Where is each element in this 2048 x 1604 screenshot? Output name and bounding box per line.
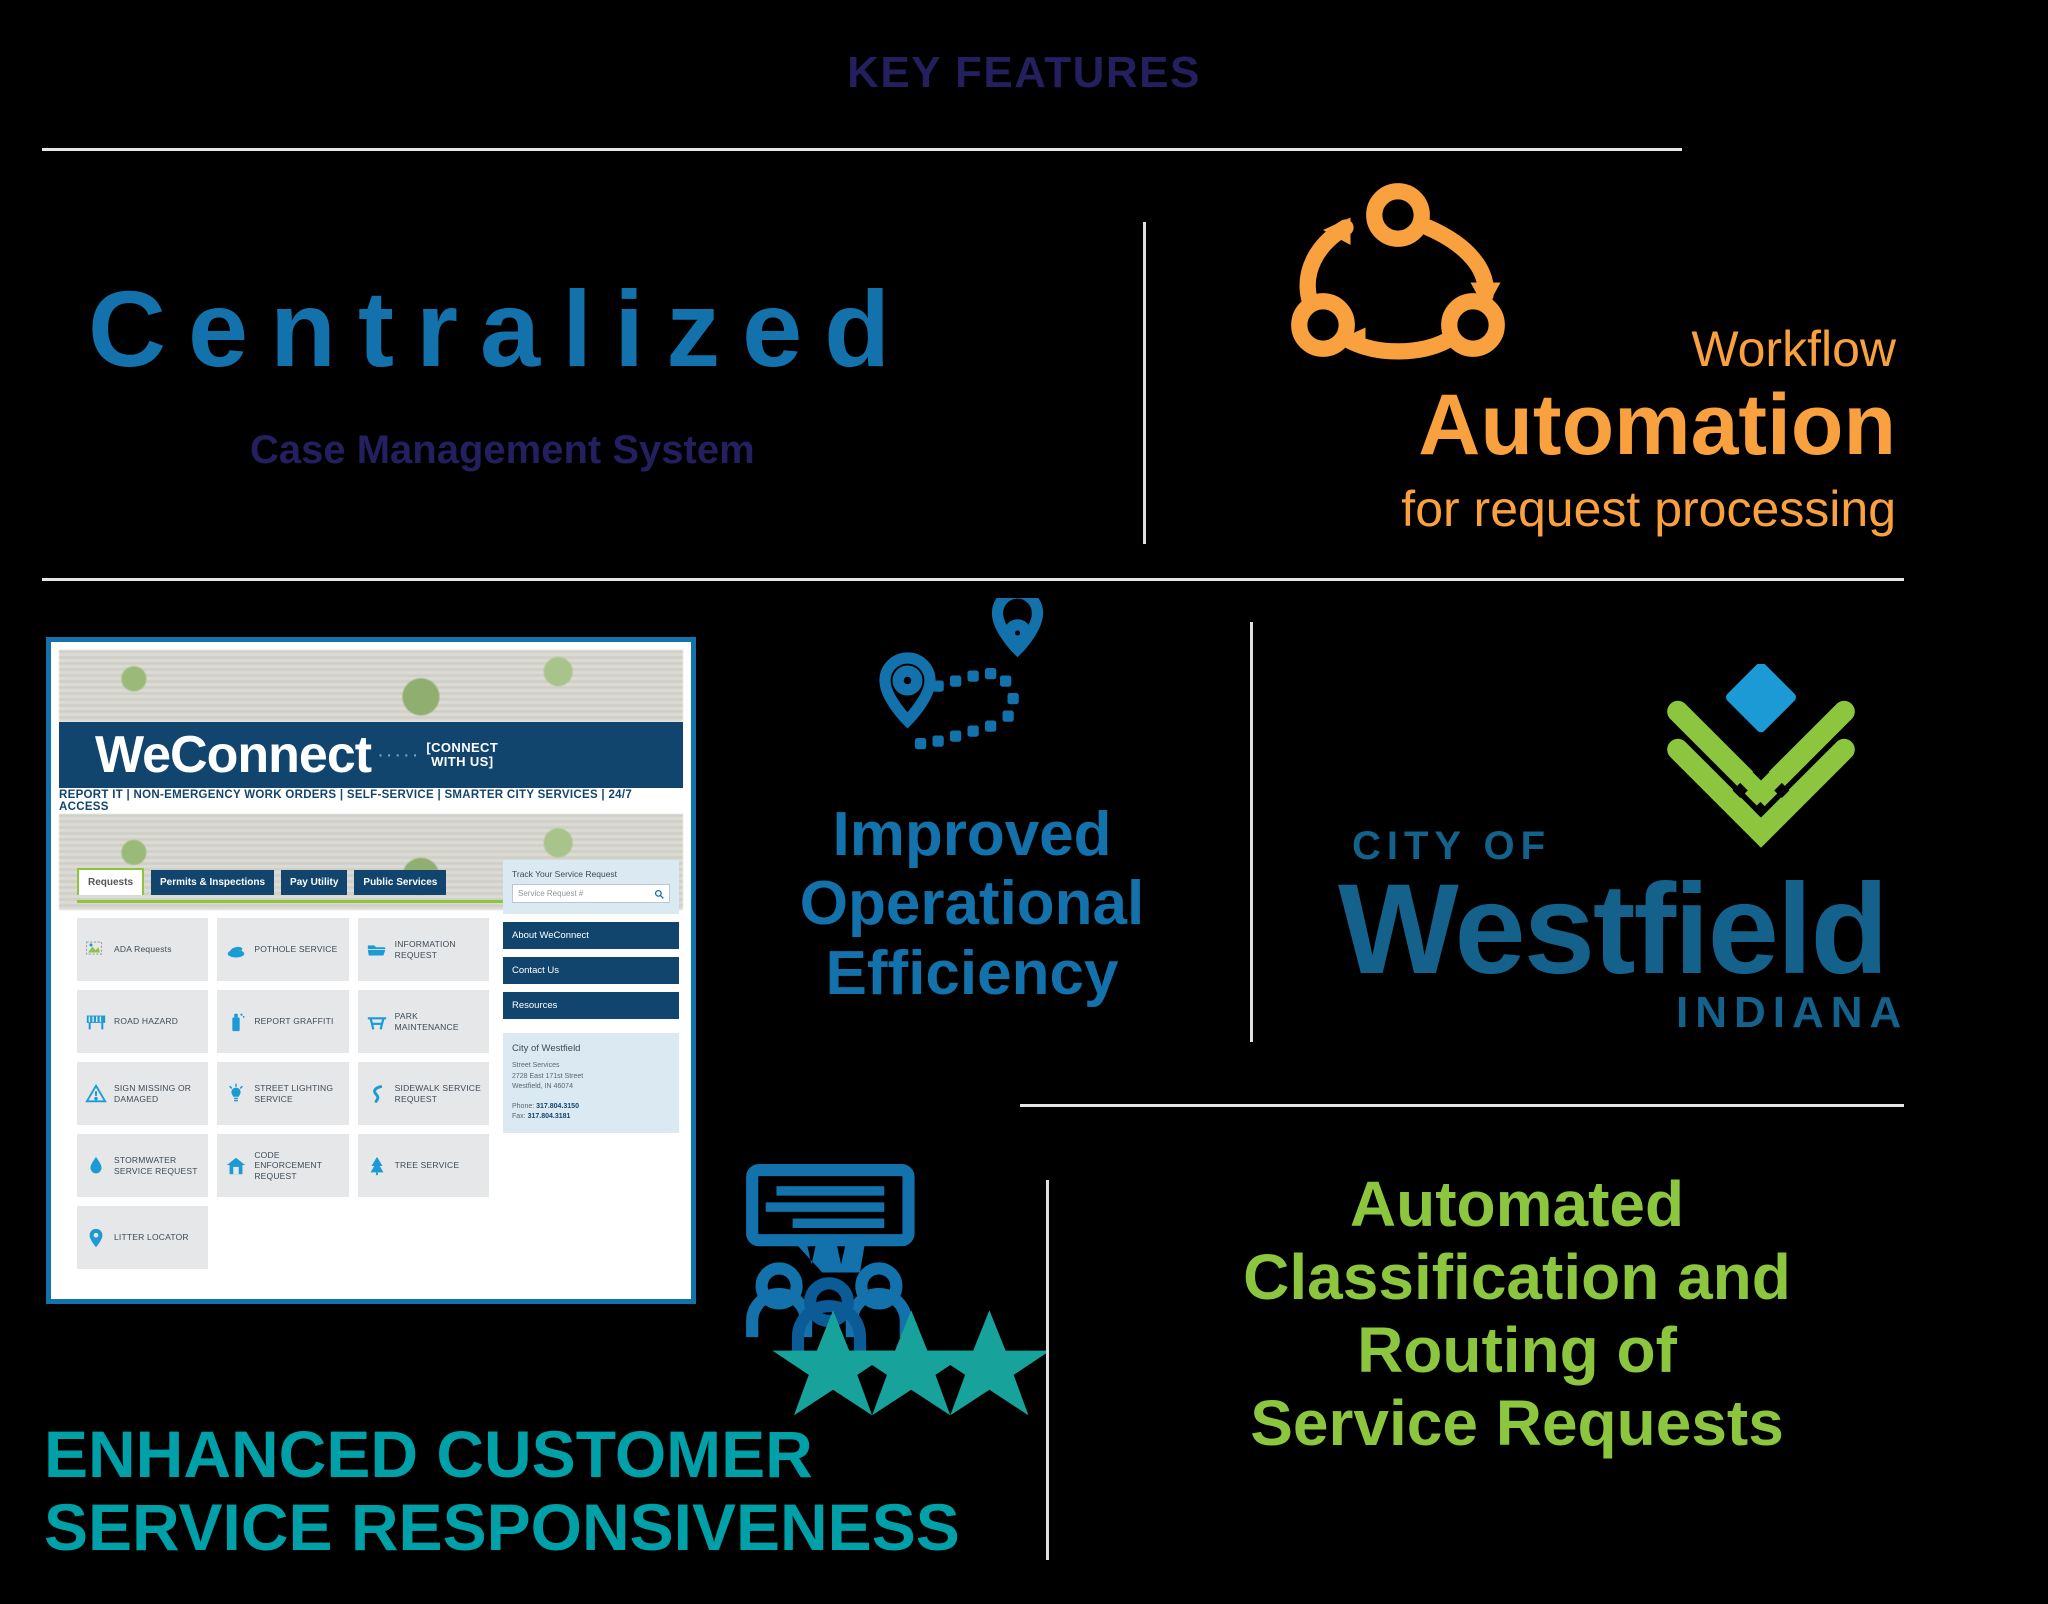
screenshot-sidebar[interactable]: Track Your Service Request Service Reque… — [503, 860, 679, 1133]
sidebar-button-resources[interactable]: Resources — [503, 992, 679, 1019]
logo-westfield: Westfield — [1338, 856, 1887, 1003]
tile-ada-requests[interactable]: ADA Requests — [77, 918, 208, 981]
tile-label: STORMWATER SERVICE REQUEST — [114, 1155, 200, 1176]
tree-icon — [366, 1155, 388, 1177]
divider-top — [42, 148, 1682, 151]
key-features-slide: KEY FEATURES Centralized Case Management… — [0, 0, 2048, 1604]
sidewalk-icon — [366, 1083, 388, 1105]
map-pin-icon — [85, 1227, 107, 1249]
tile-sidewalk-service-request[interactable]: SIDEWALK SERVICE REQUEST — [358, 1062, 489, 1125]
tile-label: LITTER LOCATOR — [114, 1232, 189, 1242]
classification-line-4: Service Requests — [1112, 1387, 1922, 1460]
tab-requests[interactable]: Requests — [77, 868, 144, 895]
customer-service-headline: ENHANCED CUSTOMER SERVICE RESPONSIVENESS — [44, 1418, 960, 1563]
tile-park-maintenance[interactable]: PARK MAINTENANCE — [358, 990, 489, 1053]
tile-label: ROAD HAZARD — [114, 1016, 178, 1026]
page-title: KEY FEATURES — [0, 48, 2048, 98]
light-bulb-icon — [225, 1083, 247, 1105]
classification-line-1: Automated — [1112, 1168, 1922, 1241]
feedback-stars-icon — [736, 1160, 1046, 1420]
tile-label: TREE SERVICE — [395, 1160, 460, 1170]
connect-with-us-tag: [CONNECT WITH US] — [426, 741, 498, 769]
classification-headline: Automated Classification and Routing of … — [1112, 1168, 1922, 1460]
tile-tree-service[interactable]: TREE SERVICE — [358, 1134, 489, 1197]
weconnect-banner: WeConnect ····· [CONNECT WITH US] — [59, 722, 683, 788]
pothole-icon — [225, 939, 247, 961]
centralized-headline: Centralized — [88, 266, 912, 391]
location-route-icon — [860, 598, 1090, 798]
divider-row1-vertical — [1143, 222, 1146, 544]
city-address-line-1: Street Services — [512, 1061, 670, 1072]
tile-label: POTHOLE SERVICE — [254, 944, 337, 954]
city-contact-heading: City of Westfield — [512, 1043, 670, 1054]
efficiency-line-3: Efficiency — [752, 939, 1192, 1008]
weconnect-brand: WeConnect — [95, 725, 371, 785]
weconnect-subbanner: REPORT IT | NON-EMERGENCY WORK ORDERS | … — [59, 788, 683, 814]
tab-permits-inspections[interactable]: Permits & Inspections — [151, 870, 274, 895]
water-drop-icon — [85, 1155, 107, 1177]
customer-service-line-1: ENHANCED CUSTOMER — [44, 1418, 960, 1491]
tile-stormwater-service-request[interactable]: STORMWATER SERVICE REQUEST — [77, 1134, 208, 1197]
tile-road-hazard[interactable]: ROAD HAZARD — [77, 990, 208, 1053]
tile-street-lighting-service[interactable]: STREET LIGHTING SERVICE — [217, 1062, 348, 1125]
tile-report-graffiti[interactable]: REPORT GRAFFITI — [217, 990, 348, 1053]
tile-label: CODE ENFORCEMENT REQUEST — [254, 1150, 340, 1181]
tab-public-services[interactable]: Public Services — [354, 870, 446, 895]
centralized-subhead: Case Management System — [250, 428, 755, 473]
tile-information-request[interactable]: INFORMATION REQUEST — [358, 918, 489, 981]
tile-label: REPORT GRAFFITI — [254, 1016, 333, 1026]
efficiency-headline: Improved Operational Efficiency — [752, 800, 1192, 1008]
tile-label: SIDEWALK SERVICE REQUEST — [395, 1083, 481, 1104]
service-request-placeholder: Service Request # — [518, 889, 583, 898]
track-request-box: Track Your Service Request Service Reque… — [503, 860, 679, 914]
automation-subhead: for request processing — [1401, 480, 1896, 538]
city-address-line-3: Westfield, IN 46074 — [512, 1082, 670, 1093]
workflow-label: Workflow — [1691, 320, 1896, 378]
automation-headline: Automation — [1418, 376, 1896, 475]
spray-can-icon — [225, 1011, 247, 1033]
track-request-label: Track Your Service Request — [512, 869, 670, 879]
house-icon — [225, 1155, 247, 1177]
divider-row2-vertical — [1250, 622, 1253, 1042]
sidebar-button-about-weconnect[interactable]: About WeConnect — [503, 922, 679, 949]
service-request-input[interactable]: Service Request # — [512, 884, 670, 903]
folder-icon — [366, 939, 388, 961]
classification-line-3: Routing of — [1112, 1314, 1922, 1387]
city-fax-line: Fax: 317.804.3181 — [512, 1112, 670, 1123]
tile-label: INFORMATION REQUEST — [395, 939, 481, 960]
spacer — [512, 1093, 670, 1102]
divider-row3-vertical — [1046, 1180, 1049, 1560]
sidebar-button-contact-us[interactable]: Contact Us — [503, 957, 679, 984]
picnic-table-icon — [366, 1011, 388, 1033]
city-contact-block: City of Westfield Street Services 2728 E… — [503, 1033, 679, 1133]
tab-pay-utility[interactable]: Pay Utility — [281, 870, 347, 895]
westfield-logo-mark — [1636, 664, 1886, 854]
divider-row2-bottom — [1020, 1104, 1904, 1107]
tile-label: PARK MAINTENANCE — [395, 1011, 481, 1032]
broken-image-icon — [85, 939, 107, 961]
tile-code-enforcement-request[interactable]: CODE ENFORCEMENT REQUEST — [217, 1134, 348, 1197]
customer-service-line-2: SERVICE RESPONSIVENESS — [44, 1491, 960, 1564]
banner-dots-icon: ····· — [377, 744, 420, 767]
map-background-top — [59, 650, 683, 722]
logo-indiana: INDIANA — [1676, 988, 1908, 1038]
tile-sign-missing-damaged[interactable]: SIGN MISSING OR DAMAGED — [77, 1062, 208, 1125]
tile-label: STREET LIGHTING SERVICE — [254, 1083, 340, 1104]
tile-label: SIGN MISSING OR DAMAGED — [114, 1083, 200, 1104]
warning-triangle-icon — [85, 1083, 107, 1105]
divider-row1-bottom — [42, 578, 1904, 581]
weconnect-screenshot[interactable]: WeConnect ····· [CONNECT WITH US] REPORT… — [46, 637, 696, 1304]
cycle-arrows-icon — [1268, 180, 1528, 380]
search-icon[interactable] — [654, 889, 664, 899]
classification-line-2: Classification and — [1112, 1241, 1922, 1314]
city-phone-line: Phone: 317.804.3150 — [512, 1102, 670, 1113]
efficiency-line-1: Improved — [752, 800, 1192, 869]
tile-litter-locator[interactable]: LITTER LOCATOR — [77, 1206, 208, 1269]
tile-label: ADA Requests — [114, 944, 172, 954]
service-tile-grid[interactable]: ADA Requests POTHOLE SERVICE INFORMATION… — [77, 918, 489, 1269]
tab-bar[interactable]: Requests Permits & Inspections Pay Utili… — [77, 868, 446, 895]
city-address-line-2: 2728 East 171st Street — [512, 1072, 670, 1083]
tile-pothole-service[interactable]: POTHOLE SERVICE — [217, 918, 348, 981]
barricade-icon — [85, 1011, 107, 1033]
efficiency-line-2: Operational — [752, 869, 1192, 938]
